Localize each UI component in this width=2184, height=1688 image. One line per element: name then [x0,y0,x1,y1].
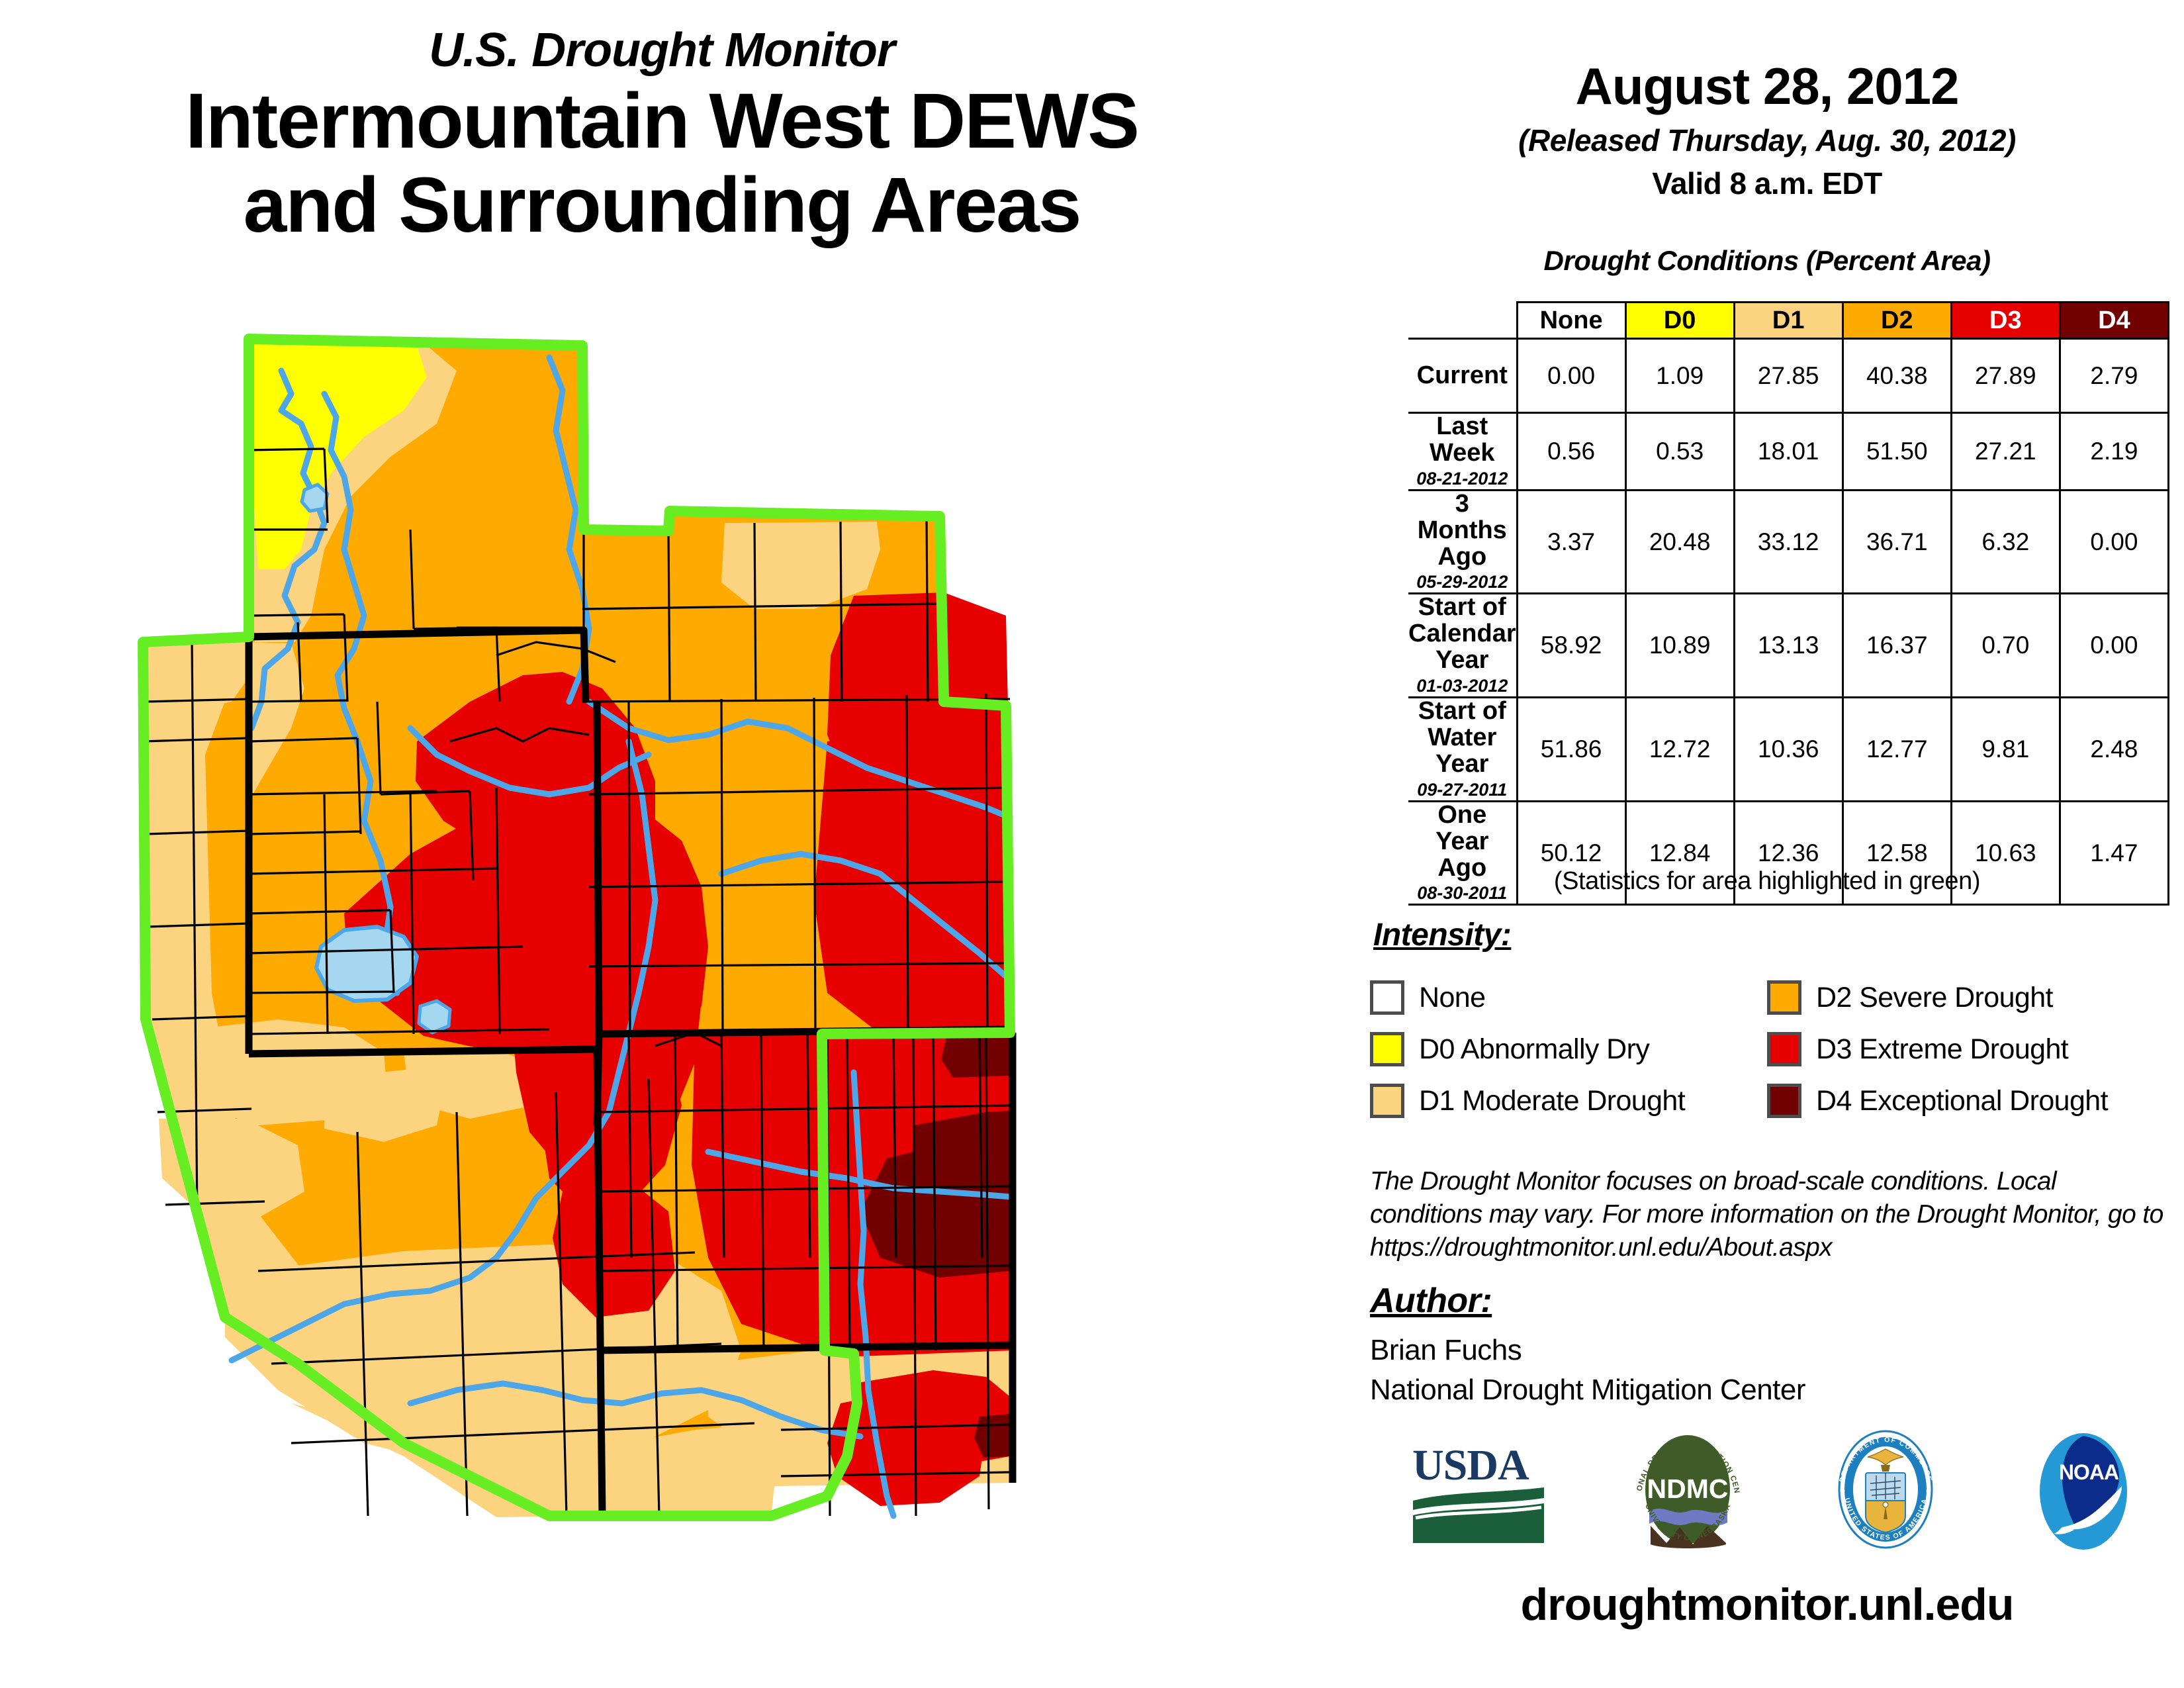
cell-3months-d1: 33.12 [1734,490,1843,594]
row-label-main: Last Week [1408,414,1516,467]
row-label-main: Current [1408,363,1516,389]
row-label-main: Start of Calendar Year [1408,594,1516,674]
cell-current-d1: 27.85 [1734,339,1843,413]
row-label-start-water-year: Start of Water Year 09-27-2011 [1408,698,1517,802]
table-row: Last Week 08-21-2012 0.56 0.53 18.01 51.… [1408,413,2169,491]
info-panel: August 28, 2012 (Released Thursday, Aug.… [1350,0,2184,1688]
table-row: 3 Months Ago 05-29-2012 3.37 20.48 33.12… [1408,490,2169,594]
row-label-main: 3 Months Ago [1408,491,1516,571]
cell-lastweek-d1: 18.01 [1734,413,1843,491]
cell-wateryear-d3: 9.81 [1951,698,2060,802]
column-header-d1: D1 [1734,303,1843,339]
column-header-d0: D0 [1625,303,1734,339]
cell-3months-d3: 6.32 [1951,490,2060,594]
row-label-date: 05-29-2012 [1408,572,1516,592]
usda-logo: USDA [1409,1432,1548,1548]
doc-seal: DEPARTMENT OF COMMERCE UNITED STATES OF … [1828,1427,1944,1552]
stats-note: (Statistics for area highlighted in gree… [1350,867,2184,896]
cell-lastweek-d0: 0.53 [1625,413,1734,491]
column-header-d2: D2 [1843,303,1951,339]
cell-wateryear-d1: 10.36 [1734,698,1843,802]
legend-label-d4: D4 Exceptional Drought [1816,1085,2108,1117]
table-corner-cell [1408,303,1517,339]
cell-calyear-d1: 13.13 [1734,594,1843,698]
cell-current-d0: 1.09 [1625,339,1734,413]
title-block: U.S. Drought Monitor Intermountain West … [0,26,1324,248]
intensity-legend: None D2 Severe Drought D0 Abnormally Dry… [1370,972,2184,1127]
page-title: Intermountain West DEWS and Surrounding … [0,79,1324,248]
table-row: Current 0.00 1.09 27.85 40.38 27.89 2.79 [1408,339,2169,413]
cell-calyear-none: 58.92 [1517,594,1625,698]
author-organization: National Drought Mitigation Center [1370,1374,1805,1407]
ndmc-logo: NDMC NATIONAL DROUGHT MITIGATION CENTER … [1627,1427,1749,1552]
svg-text:USDA: USDA [1412,1441,1529,1489]
product-kicker: U.S. Drought Monitor [0,26,1324,74]
column-header-d4: D4 [2060,303,2168,339]
report-date: August 28, 2012 [1350,56,2184,117]
drought-conditions-table: None D0 D1 D2 D3 D4 Current 0.00 1.09 27… [1408,301,2169,906]
legend-item-d1: D1 Moderate Drought [1370,1075,1767,1127]
svg-text:NOAA: NOAA [2059,1460,2119,1484]
cell-current-none: 0.00 [1517,339,1625,413]
row-label-last-week: Last Week 08-21-2012 [1408,413,1517,491]
legend-item-d2: D2 Severe Drought [1767,972,2164,1023]
legend-swatch-d2-icon [1767,980,1801,1015]
cell-3months-d4: 0.00 [2060,490,2168,594]
table-header: None D0 D1 D2 D3 D4 [1408,303,2169,339]
row-label-date: 09-27-2011 [1408,780,1516,800]
cell-wateryear-none: 51.86 [1517,698,1625,802]
author-name: Brian Fuchs [1370,1334,1522,1367]
cell-wateryear-d2: 12.77 [1843,698,1951,802]
column-header-none: None [1517,303,1625,339]
legend-label-d3: D3 Extreme Drought [1816,1033,2068,1066]
row-label-3-months-ago: 3 Months Ago 05-29-2012 [1408,490,1517,594]
stats-table-caption: Drought Conditions (Percent Area) [1350,245,2184,277]
cell-lastweek-none: 0.56 [1517,413,1625,491]
cell-current-d2: 40.38 [1843,339,1951,413]
site-url: droughtmonitor.unl.edu [1350,1579,2184,1630]
page-title-line1: Intermountain West DEWS [0,79,1324,164]
legend-label-d2: D2 Severe Drought [1816,982,2053,1014]
legend-item-none: None [1370,972,1767,1023]
legend-item-d4: D4 Exceptional Drought [1767,1075,2164,1127]
drought-map-svg [126,331,1337,1523]
cell-current-d4: 2.79 [2060,339,2168,413]
intensity-heading: Intensity: [1373,917,1511,953]
cell-wateryear-d4: 2.48 [2060,698,2168,802]
drought-map [126,331,1337,1523]
cell-current-d3: 27.89 [1951,339,2060,413]
row-label-current: Current [1408,339,1517,413]
legend-swatch-d4-icon [1767,1084,1801,1118]
disclaimer-text: The Drought Monitor focuses on broad-sca… [1370,1165,2171,1264]
cell-lastweek-d4: 2.19 [2060,413,2168,491]
agency-logos: USDA NDMC NATIONAL DROUGHT MITIGATION CE… [1370,1423,2184,1556]
table-body: Current 0.00 1.09 27.85 40.38 27.89 2.79… [1408,339,2169,905]
table-row: Start of Calendar Year 01-03-2012 58.92 … [1408,594,2169,698]
legend-item-d0: D0 Abnormally Dry [1370,1023,1767,1075]
noaa-logo: NOAA [2023,1425,2145,1554]
svg-text:NDMC: NDMC [1647,1474,1729,1504]
cell-3months-d0: 20.48 [1625,490,1734,594]
cell-lastweek-d3: 27.21 [1951,413,2060,491]
legend-swatch-none-icon [1370,980,1404,1015]
release-date: (Released Thursday, Aug. 30, 2012) [1350,122,2184,158]
cell-calyear-d0: 10.89 [1625,594,1734,698]
row-label-main: Start of Water Year [1408,698,1516,778]
cell-wateryear-d0: 12.72 [1625,698,1734,802]
valid-time: Valid 8 a.m. EDT [1350,165,2184,201]
cell-lastweek-d2: 51.50 [1843,413,1951,491]
column-header-d3: D3 [1951,303,2060,339]
cell-calyear-d4: 0.00 [2060,594,2168,698]
table-row: Start of Water Year 09-27-2011 51.86 12.… [1408,698,2169,802]
row-label-date: 01-03-2012 [1408,676,1516,696]
cell-3months-d2: 36.71 [1843,490,1951,594]
page-title-line2: and Surrounding Areas [0,164,1324,248]
cell-calyear-d3: 0.70 [1951,594,2060,698]
cell-3months-none: 3.37 [1517,490,1625,594]
row-label-date: 08-21-2012 [1408,469,1516,489]
legend-label-d0: D0 Abnormally Dry [1419,1033,1649,1066]
row-label-start-calendar-year: Start of Calendar Year 01-03-2012 [1408,594,1517,698]
legend-label-none: None [1419,982,1485,1014]
legend-item-d3: D3 Extreme Drought [1767,1023,2164,1075]
legend-swatch-d1-icon [1370,1084,1404,1118]
legend-swatch-d0-icon [1370,1032,1404,1066]
legend-swatch-d3-icon [1767,1032,1801,1066]
author-heading: Author: [1370,1281,1492,1321]
legend-label-d1: D1 Moderate Drought [1419,1085,1685,1117]
cell-calyear-d2: 16.37 [1843,594,1951,698]
